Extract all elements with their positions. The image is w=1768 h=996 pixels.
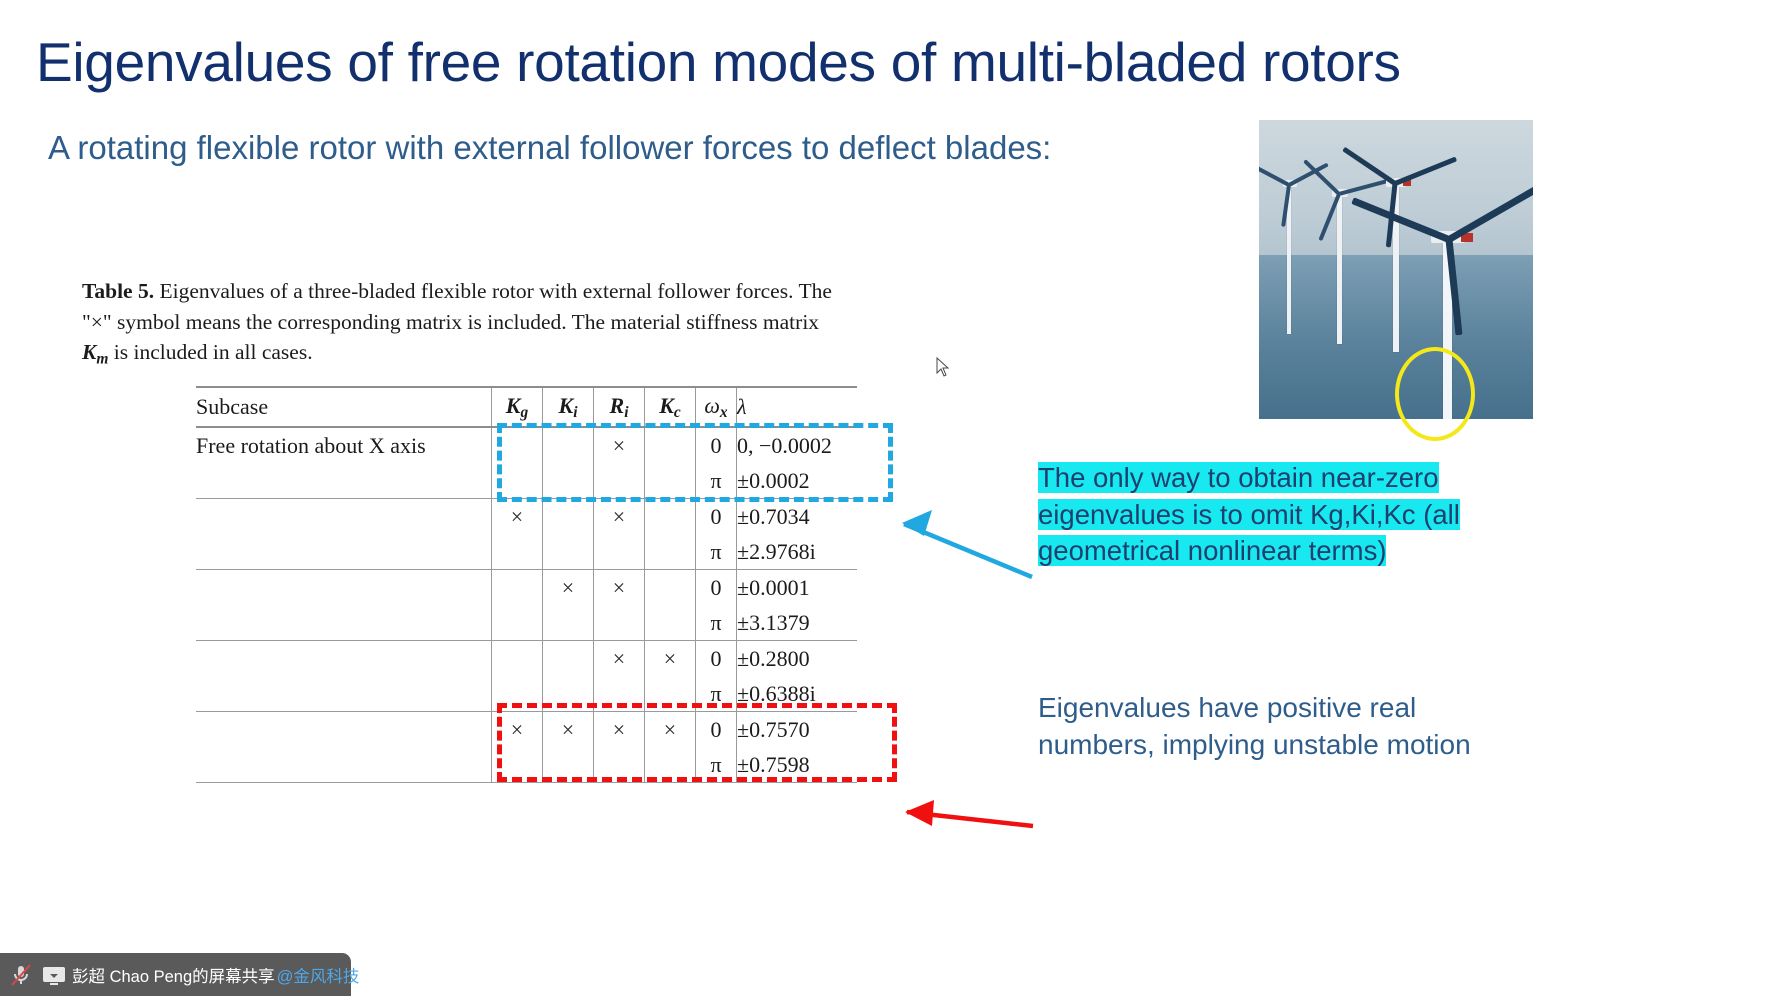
table-caption: Table 5. Eigenvalues of a three-bladed f… [82, 276, 997, 370]
cell-lambda: 0, −0.0002 [737, 427, 858, 463]
cell-ki [543, 641, 594, 677]
cell-lambda: ±0.2800 [737, 641, 858, 677]
eigenvalue-table: Subcase Kg Ki Ri Kc ωx λ Free rotation a… [196, 386, 857, 785]
cell-omega: 0 [696, 499, 737, 535]
cell-kg: × [492, 712, 543, 748]
annotation-cyan-line3: geometrical nonlinear terms) [1038, 535, 1386, 566]
cell-omega: π [696, 605, 737, 641]
cell-ri: × [594, 712, 645, 748]
cell-ki: × [543, 712, 594, 748]
annotation-unstable-motion: Eigenvalues have positive real numbers, … [1038, 690, 1508, 764]
table-row: × × × × 0 ±0.7570 [196, 712, 857, 748]
cell-ri: × [594, 570, 645, 606]
header-kg: Kg [492, 387, 543, 427]
cell-kg [492, 427, 543, 463]
cell-lambda: ±0.0001 [737, 570, 858, 606]
cell-ki [543, 534, 594, 570]
cell-omega: 0 [696, 712, 737, 748]
cyan-arrow [902, 510, 1032, 577]
cell-ki [543, 605, 594, 641]
cell-omega: π [696, 534, 737, 570]
cell-omega: 0 [696, 427, 737, 463]
table-caption-label: Table 5. [82, 279, 154, 303]
slide-subtitle: A rotating flexible rotor with external … [48, 130, 1051, 166]
table-row: π ±0.7598 [196, 747, 857, 783]
table-row: × × 0 ±0.2800 [196, 641, 857, 677]
cell-lambda: ±0.7570 [737, 712, 858, 748]
table-row: π ±2.9768i [196, 534, 857, 570]
header-omega-x: ωx [696, 387, 737, 427]
cell-ki: × [543, 570, 594, 606]
table-header-row: Subcase Kg Ki Ri Kc ωx λ [196, 387, 857, 427]
cell-lambda: ±0.0002 [737, 463, 858, 499]
header-ri: Ri [594, 387, 645, 427]
table-caption-km-subscript: m [96, 350, 108, 367]
annotation-red-line1: Eigenvalues have positive real [1038, 690, 1508, 727]
cell-kc [645, 463, 696, 499]
cell-omega: 0 [696, 641, 737, 677]
cell-omega: π [696, 676, 737, 712]
cell-omega: π [696, 747, 737, 783]
microphone-muted-icon[interactable] [6, 961, 36, 989]
screen-share-taskbar[interactable]: 彭超 Chao Peng的屏幕共享 @金风科技 [0, 953, 351, 996]
cell-ri [594, 463, 645, 499]
wind-turbine-photo [1259, 120, 1533, 419]
cell-ri [594, 605, 645, 641]
table-caption-line3: is included in all cases. [114, 340, 313, 364]
cell-kc [645, 676, 696, 712]
red-arrow [905, 800, 1033, 826]
cell-kc: × [645, 641, 696, 677]
table-row: π ±0.6388i [196, 676, 857, 712]
cell-kg [492, 676, 543, 712]
cell-kg [492, 570, 543, 606]
cell-kg: × [492, 499, 543, 535]
cell-ri [594, 676, 645, 712]
annotation-cyan-line1: The only way to obtain near-zero [1038, 462, 1439, 493]
header-kc: Kc [645, 387, 696, 427]
cell-ki [543, 499, 594, 535]
cell-kg [492, 605, 543, 641]
cell-kc [645, 570, 696, 606]
header-lambda: λ [737, 387, 858, 427]
table-row: × × 0 ±0.0001 [196, 570, 857, 606]
table-row: π ±0.0002 [196, 463, 857, 499]
slide-canvas: Eigenvalues of free rotation modes of mu… [0, 0, 1768, 996]
annotation-cyan-line2: eigenvalues is to omit Kg,Ki,Kc (all [1038, 499, 1460, 530]
header-ki: Ki [543, 387, 594, 427]
table-caption-km-symbol: K [82, 340, 96, 364]
cell-lambda: ±0.7034 [737, 499, 858, 535]
cell-ki [543, 427, 594, 463]
cell-kc [645, 747, 696, 783]
company-tag-text: @金风科技 [277, 963, 360, 987]
annotation-red-line2: numbers, implying unstable motion [1038, 727, 1508, 764]
table-bottom-rule [196, 783, 857, 786]
header-subcase: Subcase [196, 387, 492, 427]
cell-lambda: ±0.7598 [737, 747, 858, 783]
table-caption-line1: Eigenvalues of a three-bladed flexible r… [159, 279, 831, 303]
cell-lambda: ±2.9768i [737, 534, 858, 570]
annotation-near-zero-eigenvalues: The only way to obtain near-zero eigenva… [1038, 460, 1518, 570]
cell-kc [645, 427, 696, 463]
cell-ri: × [594, 499, 645, 535]
cell-kc [645, 499, 696, 535]
cell-kc: × [645, 712, 696, 748]
mouse-pointer-icon [936, 357, 950, 377]
cell-ri [594, 747, 645, 783]
subcase-label: Free rotation about X axis [196, 427, 492, 463]
cell-ki [543, 463, 594, 499]
photo-highlight-circle [1395, 347, 1475, 441]
cell-lambda: ±0.6388i [737, 676, 858, 712]
share-status-text: 彭超 Chao Peng的屏幕共享 [72, 963, 275, 987]
table-row: × × 0 ±0.7034 [196, 499, 857, 535]
cell-ri: × [594, 641, 645, 677]
table-row: Free rotation about X axis × 0 0, −0.000… [196, 427, 857, 463]
cell-kc [645, 534, 696, 570]
cell-omega: π [696, 463, 737, 499]
cell-kg [492, 641, 543, 677]
cell-kc [645, 605, 696, 641]
cell-omega: 0 [696, 570, 737, 606]
table-row: π ±3.1379 [196, 605, 857, 641]
cell-ki [543, 676, 594, 712]
cell-kg [492, 747, 543, 783]
cell-kg [492, 463, 543, 499]
cell-lambda: ±3.1379 [737, 605, 858, 641]
cell-ki [543, 747, 594, 783]
table-caption-line2: "×" symbol means the corresponding matri… [82, 310, 819, 334]
page-title: Eigenvalues of free rotation modes of mu… [36, 34, 1401, 92]
screen-share-icon[interactable] [39, 961, 69, 989]
cell-ri [594, 534, 645, 570]
cell-ri: × [594, 427, 645, 463]
cell-kg [492, 534, 543, 570]
